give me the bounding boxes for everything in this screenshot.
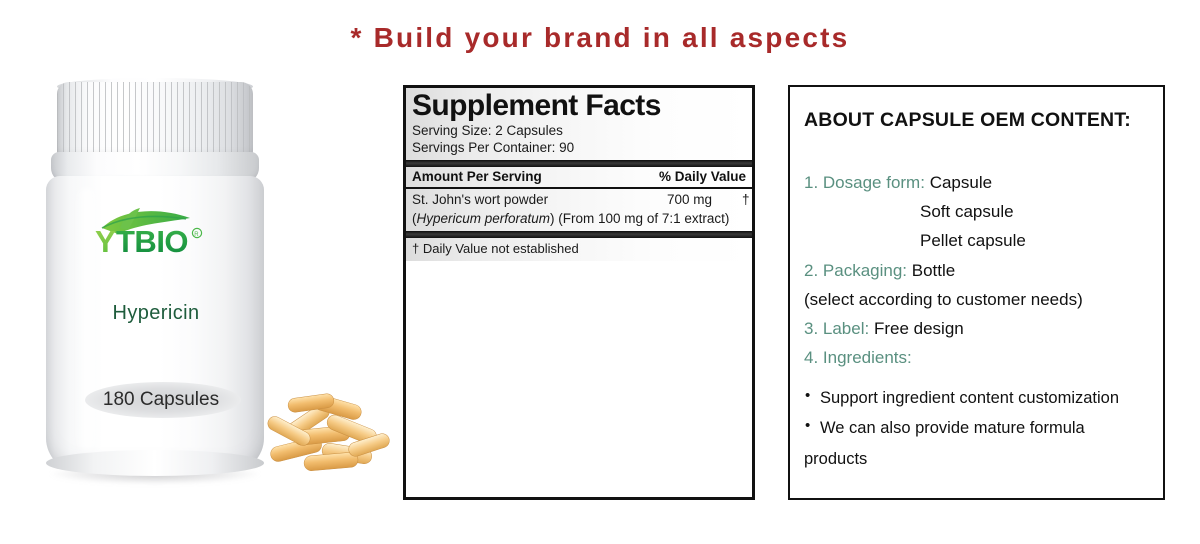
supplement-facts-content: Supplement Facts Serving Size: 2 Capsule… (406, 88, 752, 261)
servings-per-container-line: Servings Per Container: 90 (406, 139, 752, 157)
supplement-facts-title: Supplement Facts (406, 88, 752, 122)
amount-per-serving-header: Amount Per Serving % Daily Value (406, 167, 752, 187)
oem-item-dosage-form-label: 1. Dosage form: (804, 173, 925, 192)
product-bottle-image: Y TBIO R Hypericin 180 Capsules (36, 72, 286, 492)
supplement-facts-panel: Supplement Facts Serving Size: 2 Capsule… (403, 85, 755, 500)
bottle-cap (57, 82, 253, 158)
divider-thick-top (406, 160, 752, 167)
oem-bullet-item: Support ingredient content customization (804, 383, 1149, 414)
ytbio-logo: Y TBIO R (94, 206, 226, 262)
daily-value-footnote: † Daily Value not established (406, 238, 752, 261)
oem-item-packaging-label: 2. Packaging: (804, 261, 907, 280)
oem-bullet-item: We can also provide mature formula (804, 413, 1149, 444)
oem-item-label-label: 3. Label: (804, 319, 869, 338)
capsules-pile-image (264, 384, 392, 480)
capsule-count-label: 180 Capsules (36, 389, 286, 411)
daily-value-label: % Daily Value (659, 169, 746, 184)
oem-item-dosage-form: 1. Dosage form: Capsule (804, 168, 1149, 197)
supplement-panel-blank-area (406, 261, 752, 497)
svg-text:R: R (194, 232, 199, 238)
amount-per-serving-label: Amount Per Serving (412, 169, 542, 184)
ingredient-row: St. John's wort powder 700 mg † (Hyperic… (406, 189, 752, 228)
oem-item-ingredients: 4. Ingredients: (804, 343, 1149, 372)
oem-dosage-sub-soft-capsule: Soft capsule (804, 197, 1149, 226)
page-headline: * Build your brand in all aspects (0, 22, 1200, 54)
ingredient-name: St. John's wort powder (412, 192, 548, 207)
oem-item-label-value: Free design (874, 319, 964, 338)
ingredient-daily-value: † (742, 192, 750, 207)
oem-packaging-note: (select according to customer needs) (804, 285, 1149, 314)
oem-content-panel: ABOUT CAPSULE OEM CONTENT: 1. Dosage for… (788, 85, 1165, 500)
oem-panel-title: ABOUT CAPSULE OEM CONTENT: (804, 109, 1149, 132)
oem-item-ingredients-label: 4. Ingredients: (804, 348, 912, 367)
oem-item-label: 3. Label: Free design (804, 314, 1149, 343)
oem-item-packaging: 2. Packaging: Bottle (804, 256, 1149, 285)
product-name: Hypericin (36, 302, 276, 325)
oem-dosage-sub-pellet-capsule: Pellet capsule (804, 226, 1149, 255)
latin-name: Hypericum perforatum (417, 211, 551, 226)
oem-item-packaging-value: Bottle (912, 261, 955, 280)
serving-size-line: Serving Size: 2 Capsules (406, 122, 752, 140)
latin-suffix: ) (From 100 mg of 7:1 extract) (550, 211, 729, 226)
svg-text:Y: Y (95, 224, 116, 259)
divider-thick-bottom (406, 231, 752, 238)
ingredient-latin-line: (Hypericum perforatum) (From 100 mg of 7… (412, 211, 746, 226)
oem-bullet-continuation: products (804, 444, 1149, 475)
ingredient-amount: 700 mg (667, 192, 712, 207)
oem-spacer (804, 132, 1149, 168)
bottle-bottom-curve (46, 450, 264, 476)
svg-text:TBIO: TBIO (116, 224, 188, 259)
oem-item-dosage-form-value: Capsule (930, 173, 992, 192)
oem-bullet-list: Support ingredient content customization… (804, 383, 1149, 475)
